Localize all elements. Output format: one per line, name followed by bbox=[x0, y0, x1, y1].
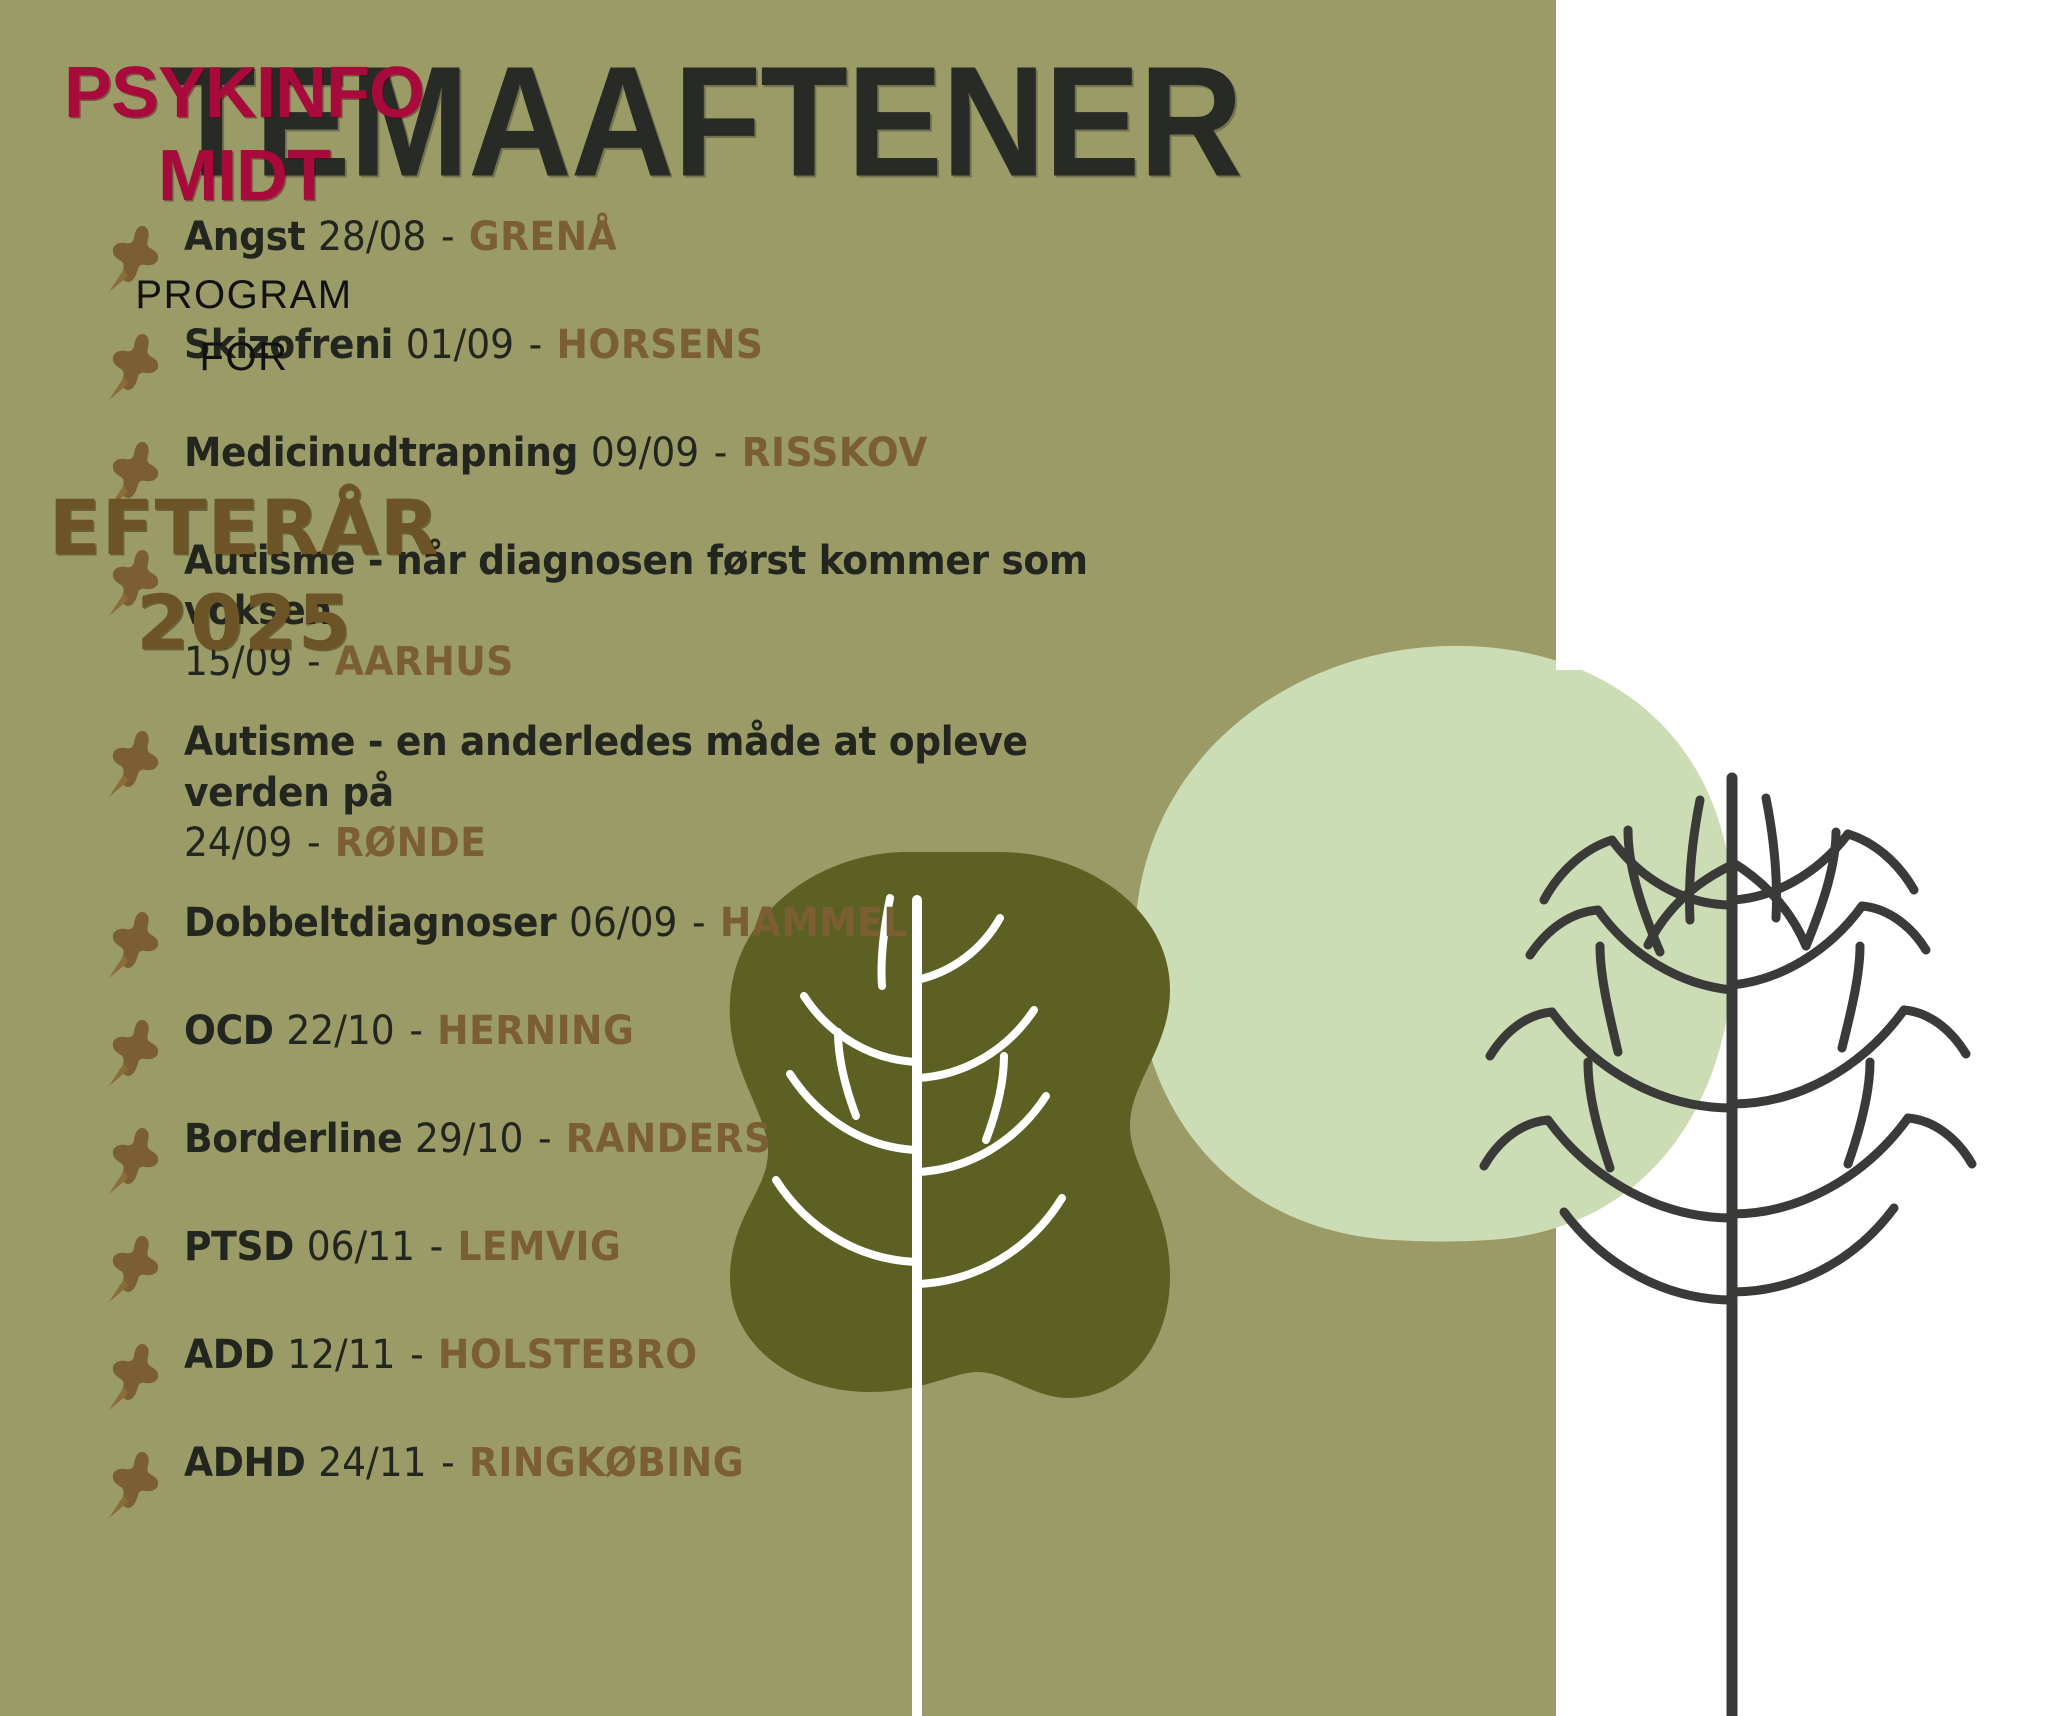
event-dash: - bbox=[428, 1224, 445, 1270]
event-date: 09/09 bbox=[591, 430, 699, 476]
event-text: Autisme - en anderledes måde at opleve v… bbox=[184, 717, 1156, 868]
event-date: 24/09 bbox=[184, 820, 292, 866]
event-date: 28/08 bbox=[318, 214, 426, 260]
event-text: OCD 22/10 - HERNING bbox=[184, 1006, 1156, 1056]
event-date: 12/11 bbox=[287, 1332, 395, 1378]
event-dash: - bbox=[527, 322, 544, 368]
event-topic: Autisme - en anderledes måde at opleve v… bbox=[184, 719, 1028, 815]
pushpin-icon bbox=[88, 898, 184, 978]
event-city: HORSENS bbox=[556, 322, 763, 368]
event-text: Dobbeltdiagnoser 06/09 - HAMMEL bbox=[184, 898, 1156, 948]
season-label: EFTERÅR 2025 bbox=[0, 480, 488, 670]
event-topic: Angst bbox=[184, 214, 305, 260]
event-text: Medicinudtrapning 09/09 - RISSKOV bbox=[184, 428, 1156, 478]
list-item[interactable]: Autisme - en anderledes måde at opleve v… bbox=[88, 717, 1218, 868]
event-topic: Borderline bbox=[184, 1116, 402, 1162]
brand-logo: PSYKINFO MIDT bbox=[0, 52, 488, 218]
event-dash: - bbox=[439, 1440, 456, 1486]
event-topic: Medicinudtrapning bbox=[184, 430, 578, 476]
event-topic: PTSD bbox=[184, 1224, 294, 1270]
season-year: 2025 bbox=[0, 575, 488, 670]
event-city: HAMMEL bbox=[720, 900, 908, 946]
brand-line-2: MIDT bbox=[0, 135, 488, 218]
list-item[interactable]: ADD 12/11 - HOLSTEBRO bbox=[88, 1330, 1218, 1410]
event-topic: ADHD bbox=[184, 1440, 305, 1486]
light-tree-branches bbox=[1484, 778, 1972, 1716]
event-city: GRENÅ bbox=[469, 214, 617, 260]
pushpin-icon bbox=[88, 717, 184, 797]
list-item[interactable]: Borderline 29/10 - RANDERS bbox=[88, 1114, 1218, 1194]
list-item[interactable]: Dobbeltdiagnoser 06/09 - HAMMEL bbox=[88, 898, 1218, 978]
event-dash: - bbox=[305, 820, 322, 866]
event-topic: Dobbeltdiagnoser bbox=[184, 900, 556, 946]
brand-line-1: PSYKINFO bbox=[0, 52, 488, 135]
pushpin-icon bbox=[88, 1438, 184, 1518]
event-text: Borderline 29/10 - RANDERS bbox=[184, 1114, 1156, 1164]
event-text: ADHD 24/11 - RINGKØBING bbox=[184, 1438, 1156, 1488]
event-dash: - bbox=[439, 214, 456, 260]
season-name: EFTERÅR bbox=[0, 480, 488, 575]
poster-canvas: TEMAAFTENER Angst 28/08 - GRENÅ bbox=[0, 0, 2048, 1716]
event-city: RISSKOV bbox=[742, 430, 928, 476]
list-item[interactable]: ADHD 24/11 - RINGKØBING bbox=[88, 1438, 1218, 1518]
event-text: Angst 28/08 - GRENÅ bbox=[184, 212, 1156, 262]
event-city: HERNING bbox=[437, 1008, 634, 1054]
event-text: ADD 12/11 - HOLSTEBRO bbox=[184, 1330, 1156, 1380]
pushpin-icon bbox=[88, 1222, 184, 1302]
event-dash: - bbox=[407, 1008, 424, 1054]
pushpin-icon bbox=[88, 1114, 184, 1194]
event-city: HOLSTEBRO bbox=[438, 1332, 698, 1378]
list-item[interactable]: PTSD 06/11 - LEMVIG bbox=[88, 1222, 1218, 1302]
event-city: RØNDE bbox=[335, 820, 487, 866]
event-text: PTSD 06/11 - LEMVIG bbox=[184, 1222, 1156, 1272]
event-date: 24/11 bbox=[318, 1440, 426, 1486]
event-city: RANDERS bbox=[566, 1116, 772, 1162]
event-city: RINGKØBING bbox=[469, 1440, 744, 1486]
list-item[interactable]: OCD 22/10 - HERNING bbox=[88, 1006, 1218, 1086]
event-list: Angst 28/08 - GRENÅ Skizofreni 01/09 - H… bbox=[88, 212, 1218, 1546]
event-topic: OCD bbox=[184, 1008, 274, 1054]
event-dash: - bbox=[712, 430, 729, 476]
program-for-label: PROGRAM FOR bbox=[0, 264, 488, 388]
event-dash: - bbox=[690, 900, 707, 946]
for-word: FOR bbox=[0, 326, 488, 388]
program-word: PROGRAM bbox=[0, 264, 488, 326]
event-dash: - bbox=[536, 1116, 553, 1162]
event-topic: ADD bbox=[184, 1332, 274, 1378]
event-date: 06/11 bbox=[307, 1224, 415, 1270]
event-city: LEMVIG bbox=[457, 1224, 621, 1270]
pushpin-icon bbox=[88, 1006, 184, 1086]
event-date: 29/10 bbox=[415, 1116, 523, 1162]
event-date: 22/10 bbox=[286, 1008, 394, 1054]
event-date: 06/09 bbox=[569, 900, 677, 946]
event-dash: - bbox=[408, 1332, 425, 1378]
pushpin-icon bbox=[88, 1330, 184, 1410]
